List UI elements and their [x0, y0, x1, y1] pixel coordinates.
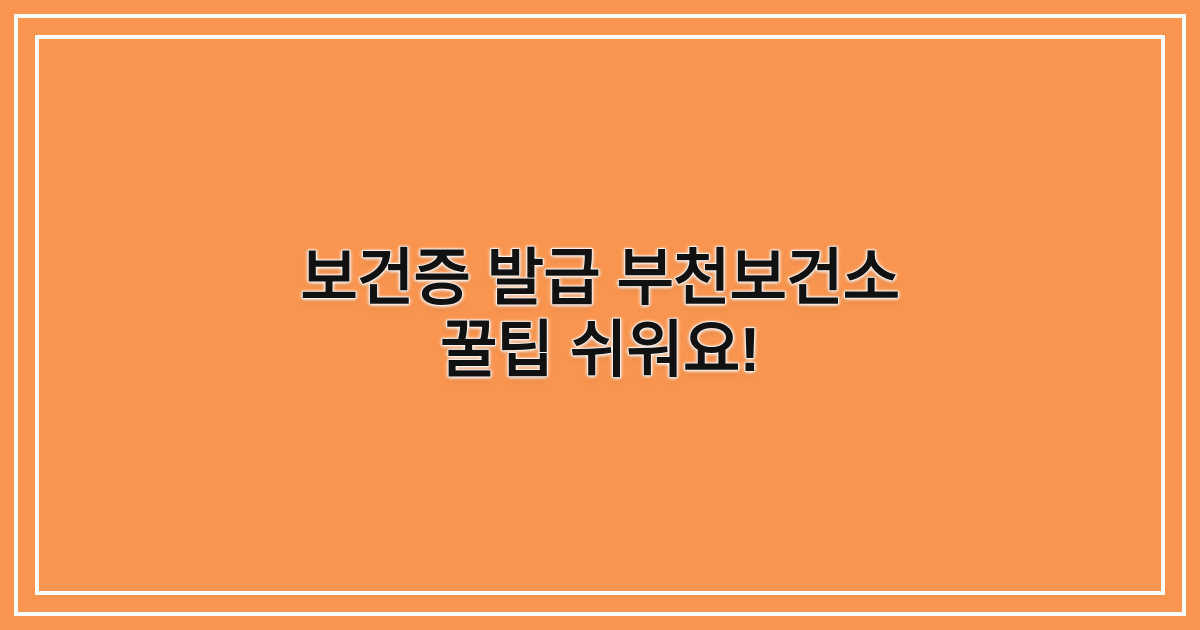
page-title: 보건증 발급 부천보건소 꿀팁 쉬워요!: [301, 243, 900, 387]
title-line-1: 보건증 발급 부천보건소: [301, 243, 900, 315]
title-line-2: 꿀팁 쉬워요!: [301, 315, 900, 387]
thumbnail-card: 보건증 발급 부천보건소 꿀팁 쉬워요!: [0, 0, 1200, 630]
title-container: 보건증 발급 부천보건소 꿀팁 쉬워요!: [0, 0, 1200, 630]
